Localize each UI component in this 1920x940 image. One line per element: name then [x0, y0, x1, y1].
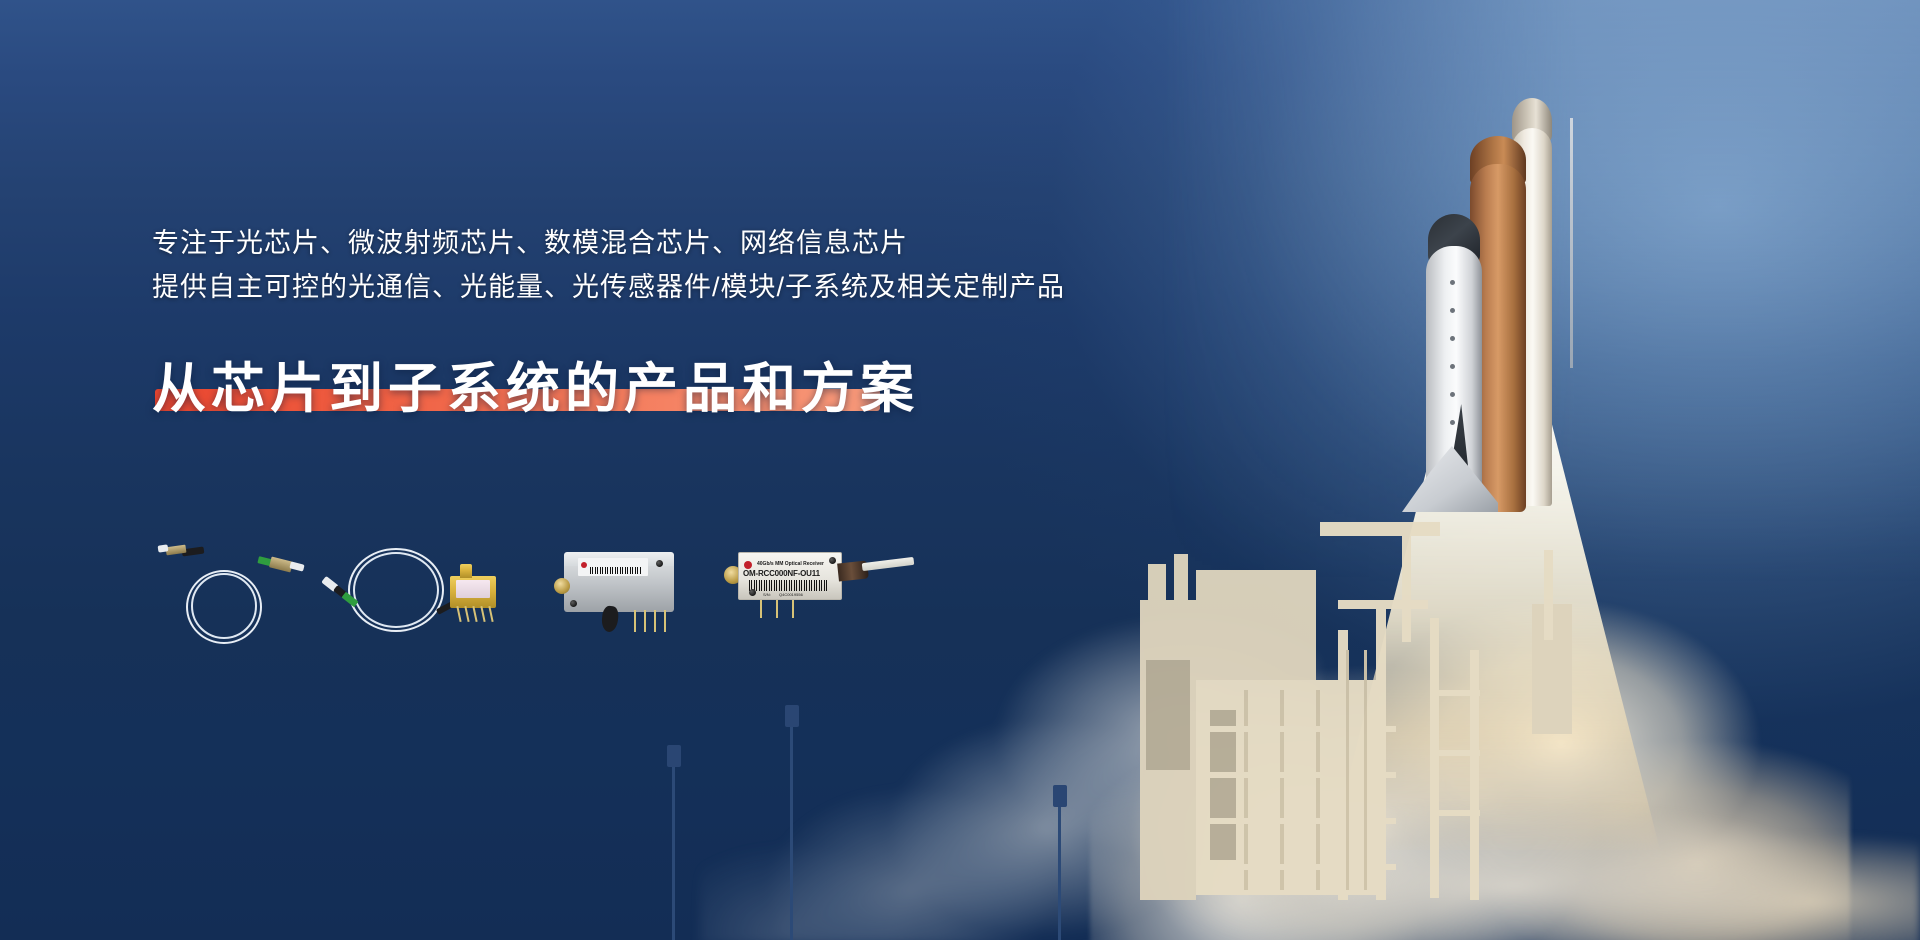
- page-title: 从芯片到子系统的产品和方案: [152, 356, 919, 424]
- banner-text-block: 专注于光芯片、微波射频芯片、数模混合芯片、网络信息芯片 提供自主可控的光通信、光…: [152, 222, 1112, 423]
- light-pole: [790, 720, 793, 940]
- receiver-model-text: OM-RCC000NF-OU11: [743, 569, 820, 578]
- product-fiber-optic-pigtail: [150, 540, 310, 650]
- receiver-product-line-text: 40Gb/s MM Optical Receiver: [757, 561, 824, 567]
- banner-subtitle-line-2: 提供自主可控的光通信、光能量、光传感器件/模块/子系统及相关定制产品: [152, 266, 1112, 310]
- product-showcase-strip: 40Gb/s MM Optical Receiver OM-RCC000NF-O…: [150, 540, 890, 655]
- receiver-serial-prefix: S/N:: [763, 592, 771, 597]
- banner-headline-group: 从芯片到子系统的产品和方案: [152, 327, 1072, 423]
- light-pole: [672, 760, 675, 940]
- vendor-logo-icon: [744, 561, 752, 569]
- lightning-mast: [1570, 118, 1573, 368]
- banner-subtitle-line-1: 专注于光芯片、微波射频芯片、数模混合芯片、网络信息芯片: [152, 222, 1112, 266]
- barcode-icon: [749, 580, 829, 591]
- hero-banner: 专注于光芯片、微波射频芯片、数模混合芯片、网络信息芯片 提供自主可控的光通信、光…: [0, 0, 1920, 940]
- light-pole-head: [785, 705, 799, 727]
- light-pole-head: [667, 745, 681, 767]
- light-pole-head: [1053, 785, 1067, 807]
- product-butterfly-laser-module: [320, 542, 520, 652]
- launch-tower: [1140, 540, 1610, 940]
- space-shuttle-icon: [1418, 128, 1638, 558]
- light-pole: [1058, 800, 1061, 940]
- product-optical-receiver: 40Gb/s MM Optical Receiver OM-RCC000NF-O…: [720, 540, 900, 652]
- product-rf-module: [550, 544, 690, 644]
- receiver-serial-text: Q4C0019556: [779, 592, 803, 597]
